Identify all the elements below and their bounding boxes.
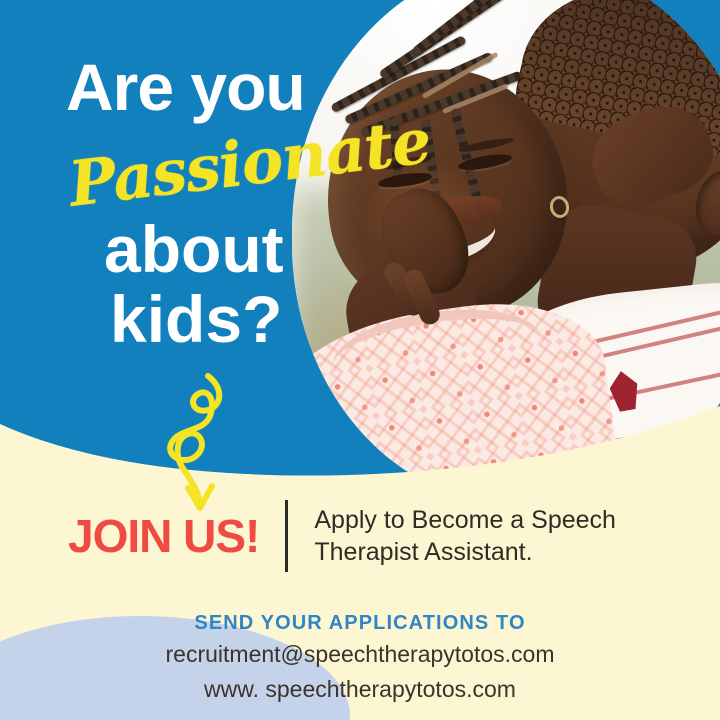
send-applications-label: SEND YOUR APPLICATIONS TO [0, 612, 720, 635]
contact-block: SEND YOUR APPLICATIONS TO recruitment@sp… [0, 612, 720, 705]
contact-website[interactable]: www. speechtherapytotos.com [0, 675, 720, 705]
join-us-label[interactable]: JOIN US! [68, 509, 259, 563]
cta-divider [285, 500, 288, 572]
headline-line-4: kids? [110, 288, 282, 351]
cta-description: Apply to Become a Speech Therapist Assis… [314, 504, 644, 568]
headline-line-1: Are you [66, 56, 396, 119]
contact-email[interactable]: recruitment@speechtherapytotos.com [0, 640, 720, 670]
headline-line-3: about [104, 218, 284, 281]
curly-down-arrow-icon [150, 372, 250, 512]
poster-canvas: Are you Passionate about kids? JOIN US! … [0, 0, 720, 720]
